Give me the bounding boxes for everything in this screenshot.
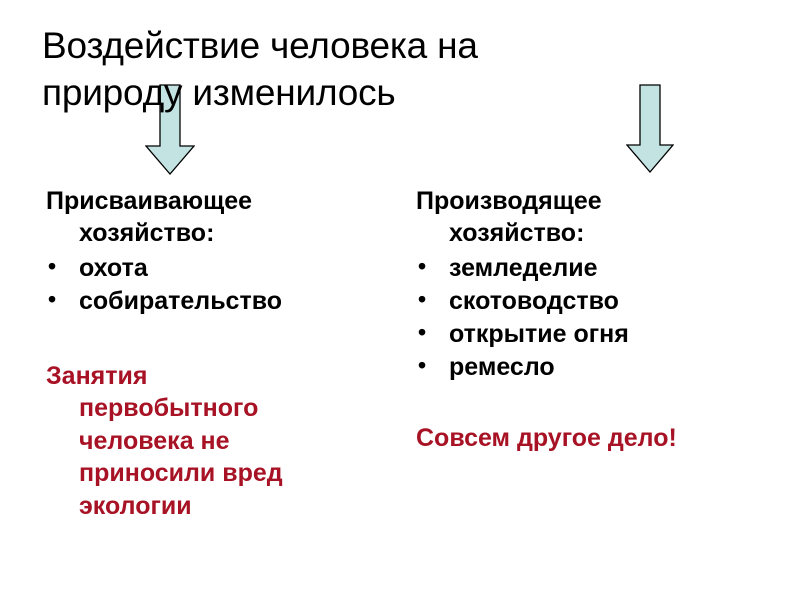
left-heading-line-2: хозяйство: bbox=[46, 218, 396, 250]
right-heading-line-2: хозяйство: bbox=[416, 218, 776, 250]
left-column: Присваивающее хозяйство: • охота • собир… bbox=[46, 186, 396, 522]
right-column: Производящее хозяйство: • земледелие • с… bbox=[416, 186, 776, 454]
list-item: • скотоводство bbox=[416, 285, 776, 318]
list-item-label: скотоводство bbox=[449, 287, 619, 315]
list-item: • охота bbox=[46, 252, 396, 285]
left-bullet-list: • охота • собирательство bbox=[46, 252, 396, 318]
list-item-label: собирательство bbox=[79, 287, 282, 315]
bullet-icon: • bbox=[418, 317, 426, 347]
list-item: • собирательство bbox=[46, 285, 396, 318]
slide-canvas: Воздействие человека на природу изменило… bbox=[0, 0, 800, 600]
right-column-heading: Производящее хозяйство: bbox=[416, 186, 776, 250]
page-title: Воздействие человека на природу изменило… bbox=[42, 22, 642, 117]
right-bullet-list: • земледелие • скотоводство • открытие о… bbox=[416, 252, 776, 384]
left-column-note: Занятия первобытного человека не приноси… bbox=[46, 360, 396, 523]
list-item: • открытие огня bbox=[416, 318, 776, 351]
bullet-icon: • bbox=[418, 251, 426, 281]
right-column-note: Совсем другое дело! bbox=[416, 422, 776, 455]
bullet-icon: • bbox=[48, 251, 56, 281]
list-item-label: охота bbox=[79, 254, 148, 282]
bullet-icon: • bbox=[48, 284, 56, 314]
left-column-heading: Присваивающее хозяйство: bbox=[46, 186, 396, 250]
list-item: • земледелие bbox=[416, 252, 776, 285]
list-item-label: открытие огня bbox=[449, 320, 629, 348]
bullet-icon: • bbox=[418, 284, 426, 314]
left-heading-line-1: Присваивающее bbox=[46, 187, 252, 215]
bullet-icon: • bbox=[418, 350, 426, 380]
list-item-label: земледелие bbox=[449, 254, 598, 282]
list-item: • ремесло bbox=[416, 351, 776, 384]
list-item-label: ремесло bbox=[449, 353, 555, 381]
right-heading-line-1: Производящее bbox=[416, 187, 602, 215]
